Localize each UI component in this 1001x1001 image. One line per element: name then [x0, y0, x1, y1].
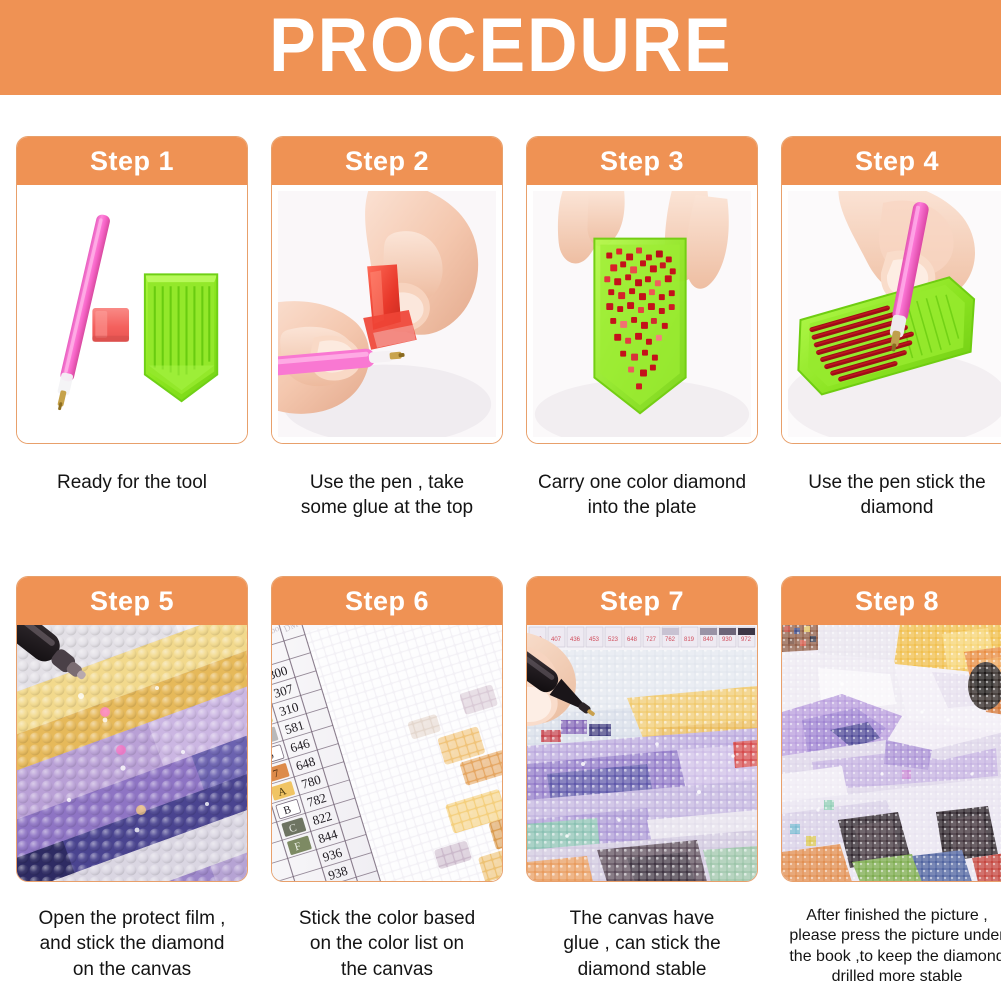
svg-text:819: 819: [684, 637, 695, 643]
svg-text:762: 762: [665, 637, 676, 643]
tools-pen-glue-tray-photo: [23, 191, 241, 437]
step-item-4: Step 4: [781, 136, 1001, 521]
step-caption-4: Use the pen stick the diamond: [781, 470, 1001, 521]
pen-taking-glue-photo: [278, 191, 496, 437]
step-card-header-6: Step 6: [272, 577, 502, 625]
step-card-header-5: Step 5: [17, 577, 247, 625]
step-caption-3: Carry one color diamond into the plate: [526, 470, 758, 521]
step-caption-7: The canvas have glue , can stick the dia…: [526, 906, 758, 982]
step-card-header-1: Step 1: [17, 137, 247, 185]
step-photo-container-3: [527, 185, 757, 443]
color-chart-photo: Serial Symbol DMC 123 456 78: [272, 625, 502, 881]
step-label-7: Step 7: [600, 586, 684, 617]
pouring-diamonds-into-tray-photo: [533, 191, 751, 437]
step-label-6: Step 6: [345, 586, 429, 617]
step-photo-container-5: [17, 625, 247, 881]
step-photo-container-2: [272, 185, 502, 443]
steps-row-1: Step 1: [16, 136, 985, 521]
step-caption-5: Open the protect film , and stick the di…: [16, 906, 248, 982]
svg-text:840: 840: [703, 637, 714, 643]
step-label-3: Step 3: [600, 146, 684, 177]
step-photo-container-6: Serial Symbol DMC 123 456 78: [272, 625, 502, 881]
svg-text:453: 453: [589, 637, 600, 643]
step-caption-8: After finished the picture , please pres…: [781, 906, 1001, 988]
svg-text:523: 523: [608, 637, 619, 643]
pen-placing-diamond-on-canvas-photo: 310407436 453523648 727762819 840930972: [527, 625, 757, 881]
step-caption-1: Ready for the tool: [16, 470, 248, 495]
step-label-8: Step 8: [855, 586, 939, 617]
svg-text:972: 972: [741, 637, 752, 643]
step-item-7: Step 7: [526, 576, 758, 988]
steps-row-2: Step 5: [16, 576, 985, 988]
step-photo-container-4: [782, 185, 1001, 443]
step-card-header-8: Step 8: [782, 577, 1001, 625]
step-card-header-3: Step 3: [527, 137, 757, 185]
step-card-header-7: Step 7: [527, 577, 757, 625]
step-item-6: Step 6: [271, 576, 503, 988]
step-item-2: Step 2: [271, 136, 503, 521]
step-label-5: Step 5: [90, 586, 174, 617]
step-card-2[interactable]: Step 2: [271, 136, 503, 444]
step-card-6[interactable]: Step 6: [271, 576, 503, 882]
step-card-1[interactable]: Step 1: [16, 136, 248, 444]
step-caption-2: Use the pen , take some glue at the top: [271, 470, 503, 521]
svg-text:648: 648: [627, 637, 638, 643]
step-item-8: Step 8: [781, 576, 1001, 988]
step-item-3: Step 3: [526, 136, 758, 521]
step-card-4[interactable]: Step 4: [781, 136, 1001, 444]
step-card-8[interactable]: Step 8: [781, 576, 1001, 882]
procedure-page: PROCEDURE Step 1: [0, 0, 1001, 1001]
step-card-header-4: Step 4: [782, 137, 1001, 185]
step-card-3[interactable]: Step 3: [526, 136, 758, 444]
page-title: PROCEDURE: [269, 8, 732, 88]
canvas-closeup-with-pen-photo: [17, 625, 247, 881]
step-label-2: Step 2: [345, 146, 429, 177]
svg-text:727: 727: [646, 637, 657, 643]
step-card-header-2: Step 2: [272, 137, 502, 185]
step-label-1: Step 1: [90, 146, 174, 177]
page-header-banner: PROCEDURE: [0, 0, 1001, 95]
step-photo-container-7: 310407436 453523648 727762819 840930972: [527, 625, 757, 881]
step-item-5: Step 5: [16, 576, 248, 988]
finished-picture-photo: [782, 625, 1001, 881]
pen-picking-diamond-photo: [788, 191, 1001, 437]
step-item-1: Step 1: [16, 136, 248, 521]
step-caption-6: Stick the color based on the color list …: [271, 906, 503, 982]
svg-text:436: 436: [570, 637, 581, 643]
svg-text:930: 930: [722, 637, 733, 643]
step-photo-container-1: [17, 185, 247, 443]
step-card-7[interactable]: Step 7: [526, 576, 758, 882]
step-card-5[interactable]: Step 5: [16, 576, 248, 882]
svg-text:407: 407: [551, 637, 562, 643]
step-photo-container-8: [782, 625, 1001, 881]
step-label-4: Step 4: [855, 146, 939, 177]
